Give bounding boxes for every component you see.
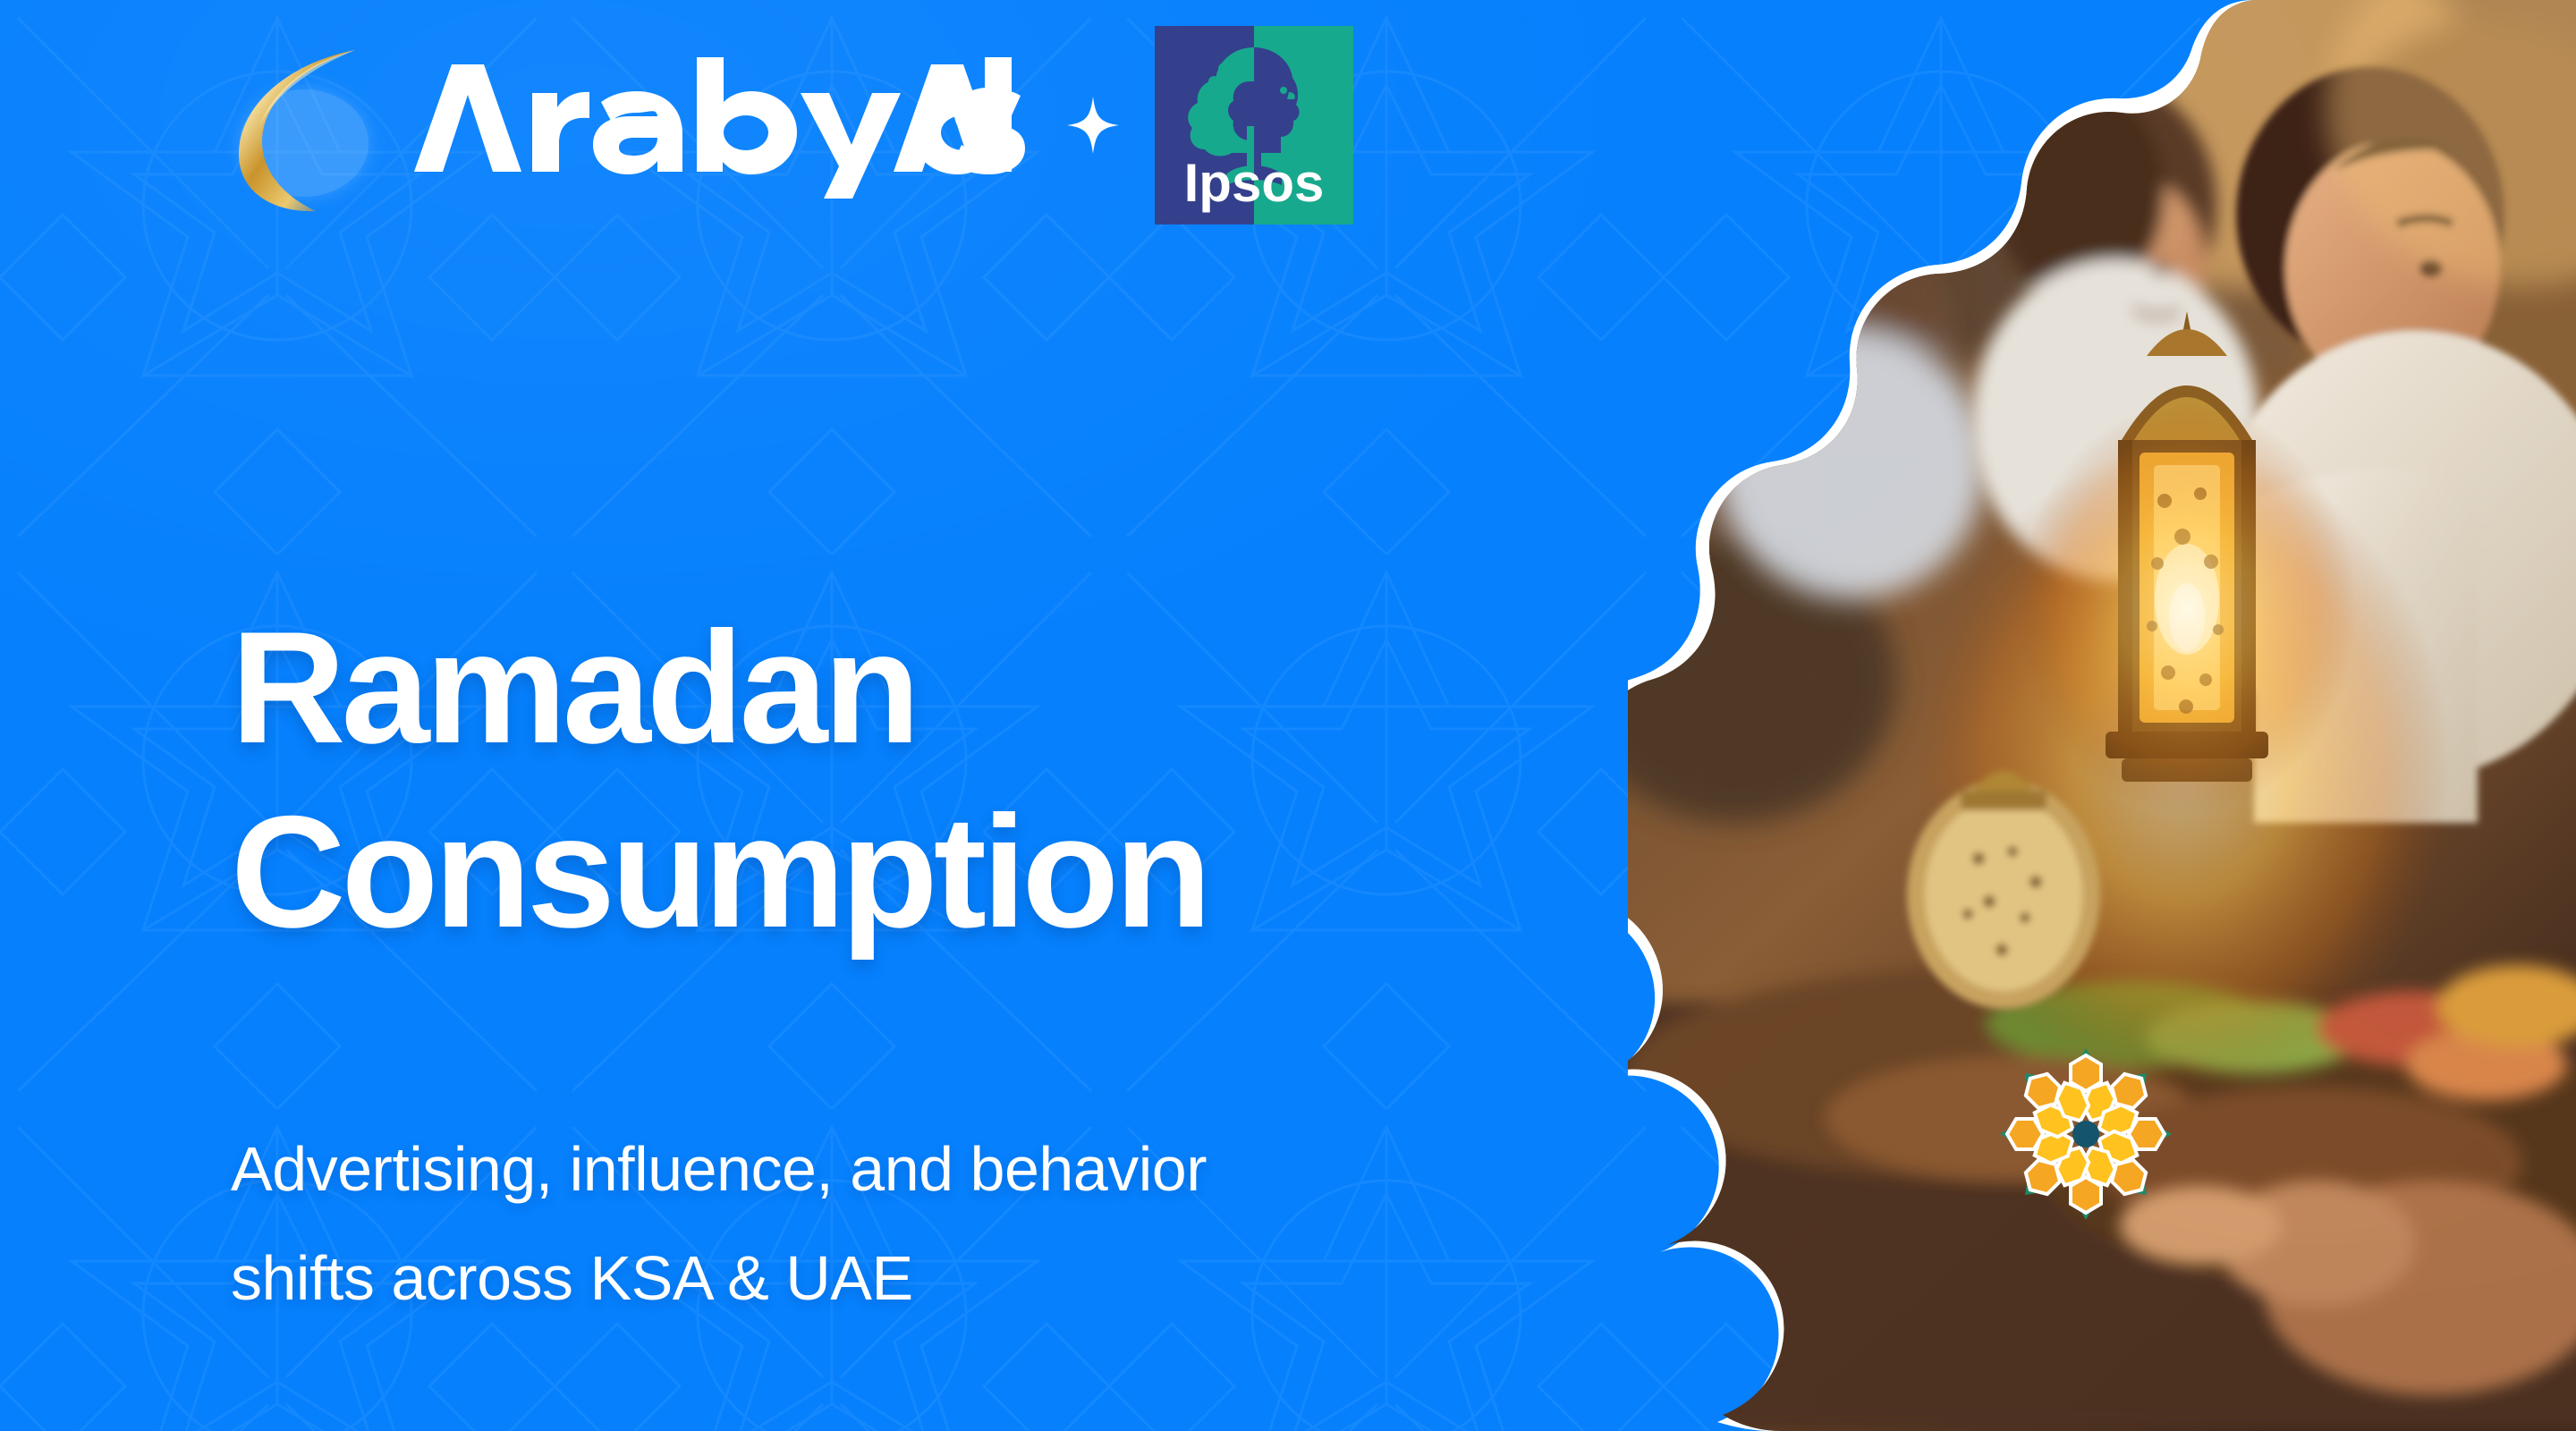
four-point-sparkle-icon xyxy=(1067,97,1119,154)
ipsos-wordmark: Ipsos xyxy=(1184,153,1325,213)
headline-line-1: Ramadan xyxy=(231,608,1841,767)
islamic-rosette-ornament xyxy=(1996,1045,2175,1224)
page-title: Ramadan Consumption xyxy=(231,608,1841,952)
slide-root: Ipsos Ramadan Consumption Advertising, i… xyxy=(0,0,2576,1431)
logo-bar: Ipsos xyxy=(228,36,1353,215)
page-subtitle: Advertising, influence, and behavior shi… xyxy=(231,1138,1751,1309)
subtitle-line-1: Advertising, influence, and behavior xyxy=(231,1138,1751,1200)
rosette-center-dot xyxy=(2072,1121,2099,1147)
headline-line-2: Consumption xyxy=(231,792,1841,952)
crescent-moon-icon xyxy=(219,36,389,215)
ipsos-logo: Ipsos xyxy=(1155,26,1353,224)
subtitle-line-2: shifts across KSA & UAE xyxy=(231,1247,1751,1309)
arabyads-logo xyxy=(411,52,1028,199)
